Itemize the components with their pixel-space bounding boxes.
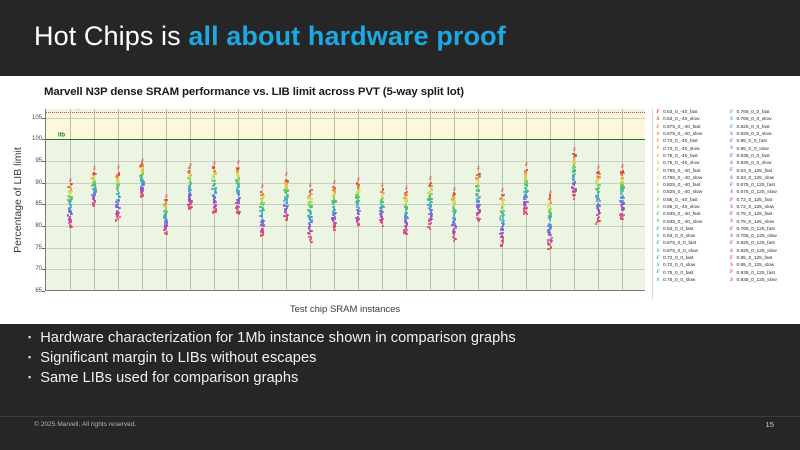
legend-item[interactable]: S0.75_0_0_slow	[653, 277, 725, 284]
cluster-top-marker: F	[285, 173, 288, 178]
data-point	[92, 184, 94, 186]
data-point	[548, 223, 550, 225]
legend-item[interactable]: F0.675_0_125_fast	[727, 182, 799, 189]
legend-marker-icon: S	[729, 146, 735, 151]
data-point	[285, 183, 287, 185]
data-point	[429, 228, 431, 230]
x-axis-tick-mark	[574, 290, 575, 291]
data-point	[310, 205, 312, 207]
legend-item-label: 0.63_0_0_fast	[663, 227, 693, 232]
data-point	[93, 172, 95, 174]
legend-item[interactable]: F0.72_0_-40_fast	[653, 138, 725, 145]
data-point	[70, 198, 72, 200]
legend-item-label: 0.765_0_-40_fast	[663, 169, 700, 174]
chart-legend: F0.63_0_-40_fastS0.63_0_-40_slowF0.675_0…	[652, 109, 798, 299]
cluster-top-marker: F	[93, 167, 96, 172]
legend-item[interactable]: F0.72_0_125_fast	[727, 197, 799, 204]
legend-item[interactable]: F0.765_0_125_fast	[727, 226, 799, 233]
data-point	[503, 220, 505, 222]
data-point	[286, 205, 288, 207]
legend-item[interactable]: S0.675_0_0_slow	[653, 248, 725, 255]
data-point	[406, 194, 408, 196]
x-axis-tick-mark	[94, 290, 95, 291]
cluster-top-marker: F	[261, 185, 264, 190]
data-point	[238, 212, 240, 214]
data-point	[549, 197, 551, 199]
legend-item-label: 0.935_0_125_slow	[737, 278, 777, 283]
legend-item[interactable]: S0.765_0_0_slow	[727, 116, 799, 123]
legend-item-label: 0.825_0_0_slow	[737, 132, 772, 137]
legend-item[interactable]: S0.765_0_125_slow	[727, 233, 799, 240]
legend-item-label: 0.825_0_0_fast	[737, 125, 770, 130]
legend-item[interactable]: S0.935_0_0_slow	[727, 160, 799, 167]
legend-item-label: 0.675_0_0_fast	[663, 241, 696, 246]
data-point	[92, 196, 94, 198]
x-axis-tick-mark	[454, 290, 455, 291]
data-point	[142, 187, 144, 189]
data-point	[455, 227, 457, 229]
plot-area: Percentage of LIB limit FFFFFFFFFFFFFFFF…	[45, 109, 645, 291]
x-axis-tick-mark	[286, 290, 287, 291]
legend-item-label: 0.72_0_0_fast	[663, 256, 693, 261]
legend-item[interactable]: F0.935_0_125_fast	[727, 270, 799, 277]
data-point	[286, 194, 288, 196]
y-axis-tick-mark	[42, 204, 45, 205]
legend-item[interactable]: F0.85_0_0_fast	[727, 138, 799, 145]
legend-item[interactable]: F0.85_0_-40_fast	[653, 197, 725, 204]
legend-marker-icon: S	[729, 263, 735, 268]
legend-item[interactable]: S0.825_0_0_slow	[727, 131, 799, 138]
data-point	[140, 178, 142, 180]
legend-item[interactable]: S0.63_0_125_slow	[727, 175, 799, 182]
legend-item[interactable]: S0.675_0_-40_slow	[653, 131, 725, 138]
data-point	[502, 232, 504, 234]
x-axis-tick-mark	[430, 290, 431, 291]
data-point	[620, 216, 622, 218]
legend-item-label: 0.675_0_125_slow	[737, 190, 777, 195]
data-point	[190, 206, 192, 208]
data-point	[549, 219, 551, 221]
data-point	[527, 201, 529, 203]
data-point	[188, 206, 190, 208]
criteria-band	[46, 112, 645, 139]
data-point	[500, 210, 502, 212]
data-point	[164, 225, 166, 227]
data-point	[404, 192, 406, 194]
data-point	[238, 184, 240, 186]
legend-item[interactable]: F0.63_0_-40_fast	[653, 109, 725, 116]
data-point	[430, 198, 432, 200]
data-point	[427, 204, 429, 206]
data-point	[93, 190, 95, 192]
legend-item-label: 0.75_0_0_slow	[663, 278, 695, 283]
legend-item[interactable]: S0.63_0_0_slow	[653, 233, 725, 240]
data-point	[572, 194, 574, 196]
title-plain: Hot Chips is	[34, 21, 188, 51]
legend-marker-icon: S	[655, 249, 661, 254]
cluster-top-marker: F	[429, 177, 432, 182]
legend-item[interactable]: F0.675_0_-40_fast	[653, 124, 725, 131]
legend-marker-icon: F	[655, 168, 661, 173]
legend-item-label: 0.825_0_-40_slow	[663, 190, 702, 195]
legend-marker-icon: F	[729, 227, 735, 232]
bullet-square-icon: ▪	[28, 373, 31, 382]
data-point	[549, 239, 551, 241]
x-axis-tick-mark	[310, 290, 311, 291]
data-point	[214, 183, 216, 185]
data-point	[526, 169, 528, 171]
data-point	[310, 230, 312, 232]
legend-marker-icon: S	[655, 263, 661, 268]
data-point	[355, 196, 357, 198]
cluster-top-marker: F	[405, 187, 408, 192]
legend-item[interactable]: F0.85_0_125_fast	[727, 255, 799, 262]
legend-item[interactable]: F0.825_0_125_fast	[727, 240, 799, 247]
legend-item[interactable]: F0.825_0_-40_fast	[653, 182, 725, 189]
legend-marker-icon: S	[655, 176, 661, 181]
legend-item-label: 0.63_0_125_slow	[737, 176, 775, 181]
data-point	[523, 201, 525, 203]
data-point	[574, 181, 576, 183]
data-point	[332, 212, 334, 214]
data-point	[284, 208, 286, 210]
data-point	[501, 194, 503, 196]
legend-marker-icon: F	[729, 154, 735, 159]
legend-marker-icon: S	[655, 161, 661, 166]
legend-item-label: 0.935_0_125_fast	[737, 271, 775, 276]
legend-item-label: 0.75_0_-40_slow	[663, 161, 700, 166]
y-axis-tick-label: 90	[26, 180, 42, 186]
data-point	[92, 202, 94, 204]
legend-marker-icon: F	[655, 241, 661, 246]
data-point	[502, 242, 504, 244]
legend-marker-icon: F	[729, 198, 735, 203]
data-point	[92, 181, 94, 183]
legend-item[interactable]: S0.75_0_-40_slow	[653, 160, 725, 167]
cluster-top-marker: F	[165, 195, 168, 200]
data-point	[166, 221, 168, 223]
data-point	[574, 173, 576, 175]
data-point	[310, 198, 312, 200]
data-point	[574, 194, 576, 196]
y-axis-tick-label: 75	[26, 245, 42, 251]
legend-marker-icon: S	[655, 117, 661, 122]
data-point	[188, 203, 190, 205]
data-point	[454, 217, 456, 219]
legend-item-label: 0.85_0_-40_fast	[663, 198, 698, 203]
cluster-top-marker: F	[213, 162, 216, 167]
data-point	[332, 206, 334, 208]
legend-item-label: 0.935_0_0_fast	[737, 154, 770, 159]
legend-marker-icon: F	[655, 154, 661, 159]
gridline-horizontal	[46, 183, 645, 184]
data-point	[500, 244, 502, 246]
bullet-text: Significant margin to LIBs without escap…	[40, 350, 316, 366]
legend-marker-icon: S	[655, 205, 661, 210]
data-point	[550, 241, 552, 243]
legend-item-label: 0.72_0_125_slow	[737, 205, 775, 210]
data-point	[237, 178, 239, 180]
data-point	[142, 169, 144, 171]
legend-item[interactable]: F0.765_0_0_fast	[727, 109, 799, 116]
legend-item-label: 0.935_0_-40_slow	[663, 220, 702, 225]
legend-item[interactable]: F0.675_0_0_fast	[653, 240, 725, 247]
data-point	[622, 202, 624, 204]
data-point	[379, 219, 381, 221]
legend-item-label: 0.935_0_0_slow	[737, 161, 772, 166]
legend-marker-icon: S	[729, 234, 735, 239]
y-axis-tick-mark	[42, 291, 45, 292]
y-axis-tick-label: 65	[26, 288, 42, 294]
data-point	[479, 209, 481, 211]
data-point	[550, 208, 552, 210]
bullet-item: ▪Same LIBs used for comparison graphs	[28, 370, 800, 386]
legend-item[interactable]: S0.63_0_-40_slow	[653, 116, 725, 123]
x-axis-tick-mark	[142, 290, 143, 291]
data-point	[140, 164, 142, 166]
legend-marker-icon: F	[655, 139, 661, 144]
data-point	[478, 204, 480, 206]
legend-item-label: 0.85_0_-40_slow	[663, 205, 700, 210]
data-point	[333, 229, 335, 231]
data-point	[166, 231, 168, 233]
legend-item-label: 0.675_0_0_slow	[663, 249, 698, 254]
data-point	[382, 225, 384, 227]
gridline-horizontal	[46, 204, 645, 205]
data-point	[403, 229, 405, 231]
data-point	[622, 186, 624, 188]
data-point	[116, 188, 118, 190]
legend-marker-icon: F	[729, 270, 735, 275]
data-point	[430, 205, 432, 207]
legend-item[interactable]: S0.825_0_125_slow	[727, 248, 799, 255]
data-point	[69, 216, 71, 218]
legend-item-label: 0.75_0_125_slow	[737, 220, 775, 225]
y-axis-tick-label: 105	[26, 115, 42, 121]
legend-item[interactable]: S0.85_0_-40_slow	[653, 204, 725, 211]
legend-marker-icon: S	[729, 132, 735, 137]
slide-title-band: Hot Chips is all about hardware proof	[0, 0, 800, 72]
data-point	[117, 218, 119, 220]
legend-item[interactable]: F0.75_0_0_fast	[653, 270, 725, 277]
chart-card: Marvell N3P dense SRAM performance vs. L…	[0, 76, 800, 324]
footer-divider	[0, 416, 800, 417]
legend-marker-icon: F	[729, 125, 735, 130]
data-point	[238, 206, 240, 208]
y-axis-tick-mark	[42, 183, 45, 184]
data-point	[403, 197, 405, 199]
cluster-top-marker: F	[549, 191, 552, 196]
data-point	[333, 199, 335, 201]
data-point	[116, 206, 118, 208]
data-point	[188, 170, 190, 172]
data-point	[214, 180, 216, 182]
data-point	[309, 194, 311, 196]
cluster-top-marker: F	[237, 161, 240, 166]
data-point	[118, 172, 120, 174]
legend-item[interactable]: S0.935_0_-40_slow	[653, 218, 725, 225]
legend-item[interactable]: F0.935_0_-40_fast	[653, 211, 725, 218]
data-point	[188, 185, 190, 187]
legend-item[interactable]: F0.63_0_125_fast	[727, 167, 799, 174]
criteria-reference-line	[46, 112, 645, 113]
data-point	[477, 180, 479, 182]
data-point	[525, 189, 527, 191]
x-axis-tick-mark	[478, 290, 479, 291]
cluster-top-marker: F	[477, 167, 480, 172]
legend-item[interactable]: F0.72_0_0_fast	[653, 255, 725, 262]
data-point	[310, 221, 312, 223]
cluster-top-marker: F	[69, 179, 72, 184]
y-axis-tick-label: 70	[26, 266, 42, 272]
legend-item-label: 0.75_0_0_fast	[663, 271, 693, 276]
data-point	[309, 239, 311, 241]
data-point	[454, 231, 456, 233]
data-point	[551, 237, 553, 239]
legend-item[interactable]: S0.765_0_-40_slow	[653, 175, 725, 182]
x-axis-tick-mark	[70, 290, 71, 291]
chart-title: Marvell N3P dense SRAM performance vs. L…	[44, 86, 464, 98]
data-point	[286, 214, 288, 216]
legend-item-label: 0.85_0_125_slow	[737, 263, 775, 268]
data-point	[262, 228, 264, 230]
x-axis-tick-mark	[214, 290, 215, 291]
data-point	[524, 187, 526, 189]
legend-item[interactable]: S0.825_0_-40_slow	[653, 189, 725, 196]
legend-marker-icon: F	[655, 256, 661, 261]
lib-reference-line	[46, 139, 645, 140]
y-axis-tick-mark	[42, 161, 45, 162]
y-axis-tick-mark	[42, 269, 45, 270]
data-point	[283, 215, 285, 217]
legend-item[interactable]: F0.63_0_0_fast	[653, 226, 725, 233]
legend-item-label: 0.85_0_125_fast	[737, 256, 773, 261]
data-point	[622, 179, 624, 181]
data-point	[285, 191, 287, 193]
x-axis-tick-mark	[382, 290, 383, 291]
data-point	[475, 177, 477, 179]
data-point	[236, 167, 238, 169]
data-point	[550, 246, 552, 248]
data-point	[573, 198, 575, 200]
data-point	[502, 228, 504, 230]
legend-marker-icon: F	[655, 110, 661, 115]
legend-item[interactable]: F0.75_0_-40_fast	[653, 153, 725, 160]
data-point	[190, 189, 192, 191]
legend-item[interactable]: S0.72_0_125_slow	[727, 204, 799, 211]
gridline-horizontal	[46, 161, 645, 162]
legend-item[interactable]: S0.85_0_125_slow	[727, 262, 799, 269]
x-axis-tick-mark	[406, 290, 407, 291]
legend-item[interactable]: F0.75_0_125_fast	[727, 211, 799, 218]
legend-item[interactable]: S0.675_0_125_slow	[727, 189, 799, 196]
legend-marker-icon: F	[655, 227, 661, 232]
data-point	[165, 202, 167, 204]
data-point	[500, 236, 502, 238]
data-point	[572, 165, 574, 167]
legend-marker-icon: F	[729, 139, 735, 144]
data-point	[598, 173, 600, 175]
data-point	[405, 200, 407, 202]
data-point	[406, 217, 408, 219]
data-point	[597, 176, 599, 178]
bullet-item: ▪Hardware characterization for 1Mb insta…	[28, 330, 800, 346]
data-point	[211, 179, 213, 181]
data-point	[623, 214, 625, 216]
data-point	[381, 196, 383, 198]
gridline-horizontal	[46, 248, 645, 249]
data-point	[621, 177, 623, 179]
legend-item[interactable]: S0.85_0_0_slow	[727, 145, 799, 152]
x-axis-label: Test chip SRAM instances	[45, 304, 645, 315]
legend-item-label: 0.72_0_-40_fast	[663, 139, 698, 144]
legend-marker-icon: S	[655, 190, 661, 195]
legend-item[interactable]: S0.935_0_125_slow	[727, 277, 799, 284]
data-point	[237, 190, 239, 192]
y-axis-tick-label: 85	[26, 201, 42, 207]
data-point	[118, 192, 120, 194]
legend-item[interactable]: S0.72_0_0_slow	[653, 262, 725, 269]
legend-marker-icon: S	[729, 190, 735, 195]
legend-marker-icon: S	[729, 161, 735, 166]
data-point	[475, 193, 477, 195]
gridline-horizontal	[46, 226, 645, 227]
data-point	[70, 188, 72, 190]
legend-item[interactable]: S0.72_0_-40_slow	[653, 145, 725, 152]
legend-marker-icon: S	[655, 146, 661, 151]
data-point	[358, 184, 360, 186]
y-axis-tick-mark	[42, 118, 45, 119]
data-point	[598, 216, 600, 218]
data-point	[215, 208, 217, 210]
legend-marker-icon: F	[729, 110, 735, 115]
legend-item[interactable]: F0.825_0_0_fast	[727, 124, 799, 131]
data-point	[212, 211, 214, 213]
data-point	[357, 194, 359, 196]
x-axis-tick-mark	[238, 290, 239, 291]
gridline-horizontal	[46, 269, 645, 270]
cluster-top-marker: F	[381, 184, 384, 189]
data-point	[116, 215, 118, 217]
data-point	[358, 210, 360, 212]
data-point	[286, 180, 288, 182]
legend-item[interactable]: F0.765_0_-40_fast	[653, 167, 725, 174]
data-point	[142, 173, 144, 175]
legend-item-label: 0.765_0_0_slow	[737, 117, 772, 122]
x-axis-tick-mark	[622, 290, 623, 291]
cluster-top-marker: F	[189, 164, 192, 169]
cluster-top-marker: F	[453, 188, 456, 193]
cluster-top-marker: F	[597, 166, 600, 171]
data-point	[502, 207, 504, 209]
data-point	[598, 187, 600, 189]
legend-item[interactable]: S0.75_0_125_slow	[727, 218, 799, 225]
data-point	[574, 169, 576, 171]
y-axis-tick-label: 95	[26, 158, 42, 164]
data-point	[453, 228, 455, 230]
data-point	[575, 188, 577, 190]
legend-marker-icon: F	[655, 212, 661, 217]
data-point	[286, 187, 288, 189]
data-point	[119, 207, 121, 209]
x-axis-tick-mark	[550, 290, 551, 291]
data-point	[238, 182, 240, 184]
legend-marker-icon: F	[655, 125, 661, 130]
data-point	[503, 194, 505, 196]
bullet-text: Hardware characterization for 1Mb instan…	[40, 330, 516, 346]
legend-item-label: 0.63_0_0_slow	[663, 234, 695, 239]
legend-item[interactable]: F0.935_0_0_fast	[727, 153, 799, 160]
